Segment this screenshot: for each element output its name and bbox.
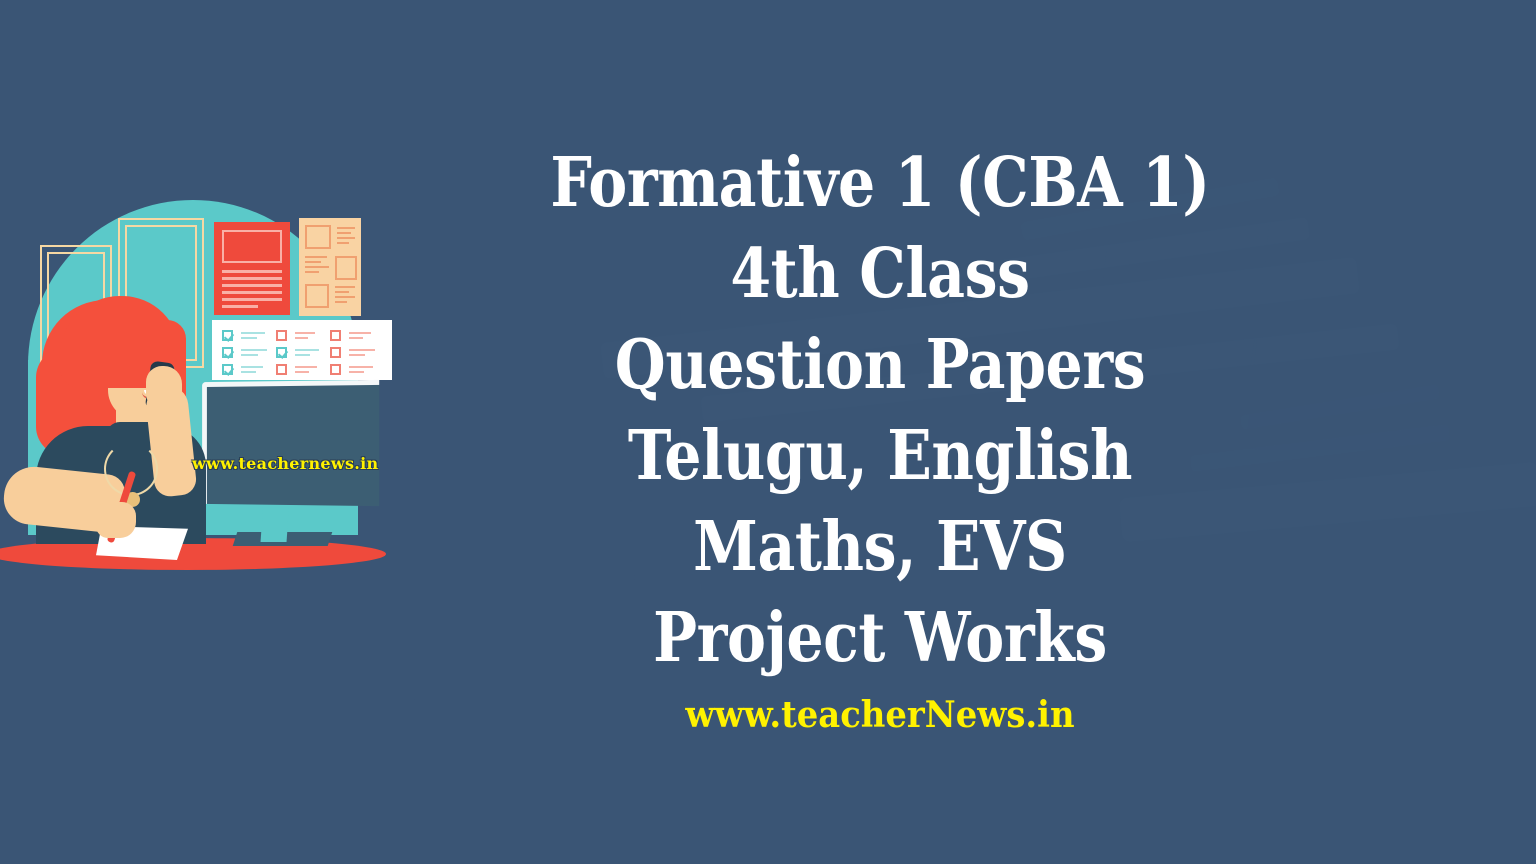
poster-canvas: www.teachernews.in Formative 1 (CBA 1) 4… [0, 0, 1536, 864]
red-document-icon [214, 222, 290, 315]
headline-line-5: Maths, EVS [527, 502, 1232, 593]
headline-block: Formative 1 (CBA 1) 4th Class Question P… [470, 138, 1290, 684]
headline-line-4: Telugu, English [527, 411, 1232, 502]
headline-line-3: Question Papers [527, 320, 1232, 411]
left-hand [96, 502, 136, 538]
headline-line-6: Project Works [527, 593, 1232, 684]
monitor-stand [261, 500, 290, 542]
office-illustration: www.teachernews.in [0, 170, 400, 590]
monitor-screen [202, 380, 379, 506]
right-hand [146, 366, 182, 408]
illustration-watermark: www.teachernews.in [192, 454, 378, 473]
checklist-panel [212, 320, 392, 380]
headline-line-2: 4th Class [527, 229, 1232, 320]
tan-document-icon [299, 218, 361, 316]
site-url-label: www.teacherNews.in [495, 694, 1266, 736]
headline-line-1: Formative 1 (CBA 1) [527, 138, 1232, 229]
